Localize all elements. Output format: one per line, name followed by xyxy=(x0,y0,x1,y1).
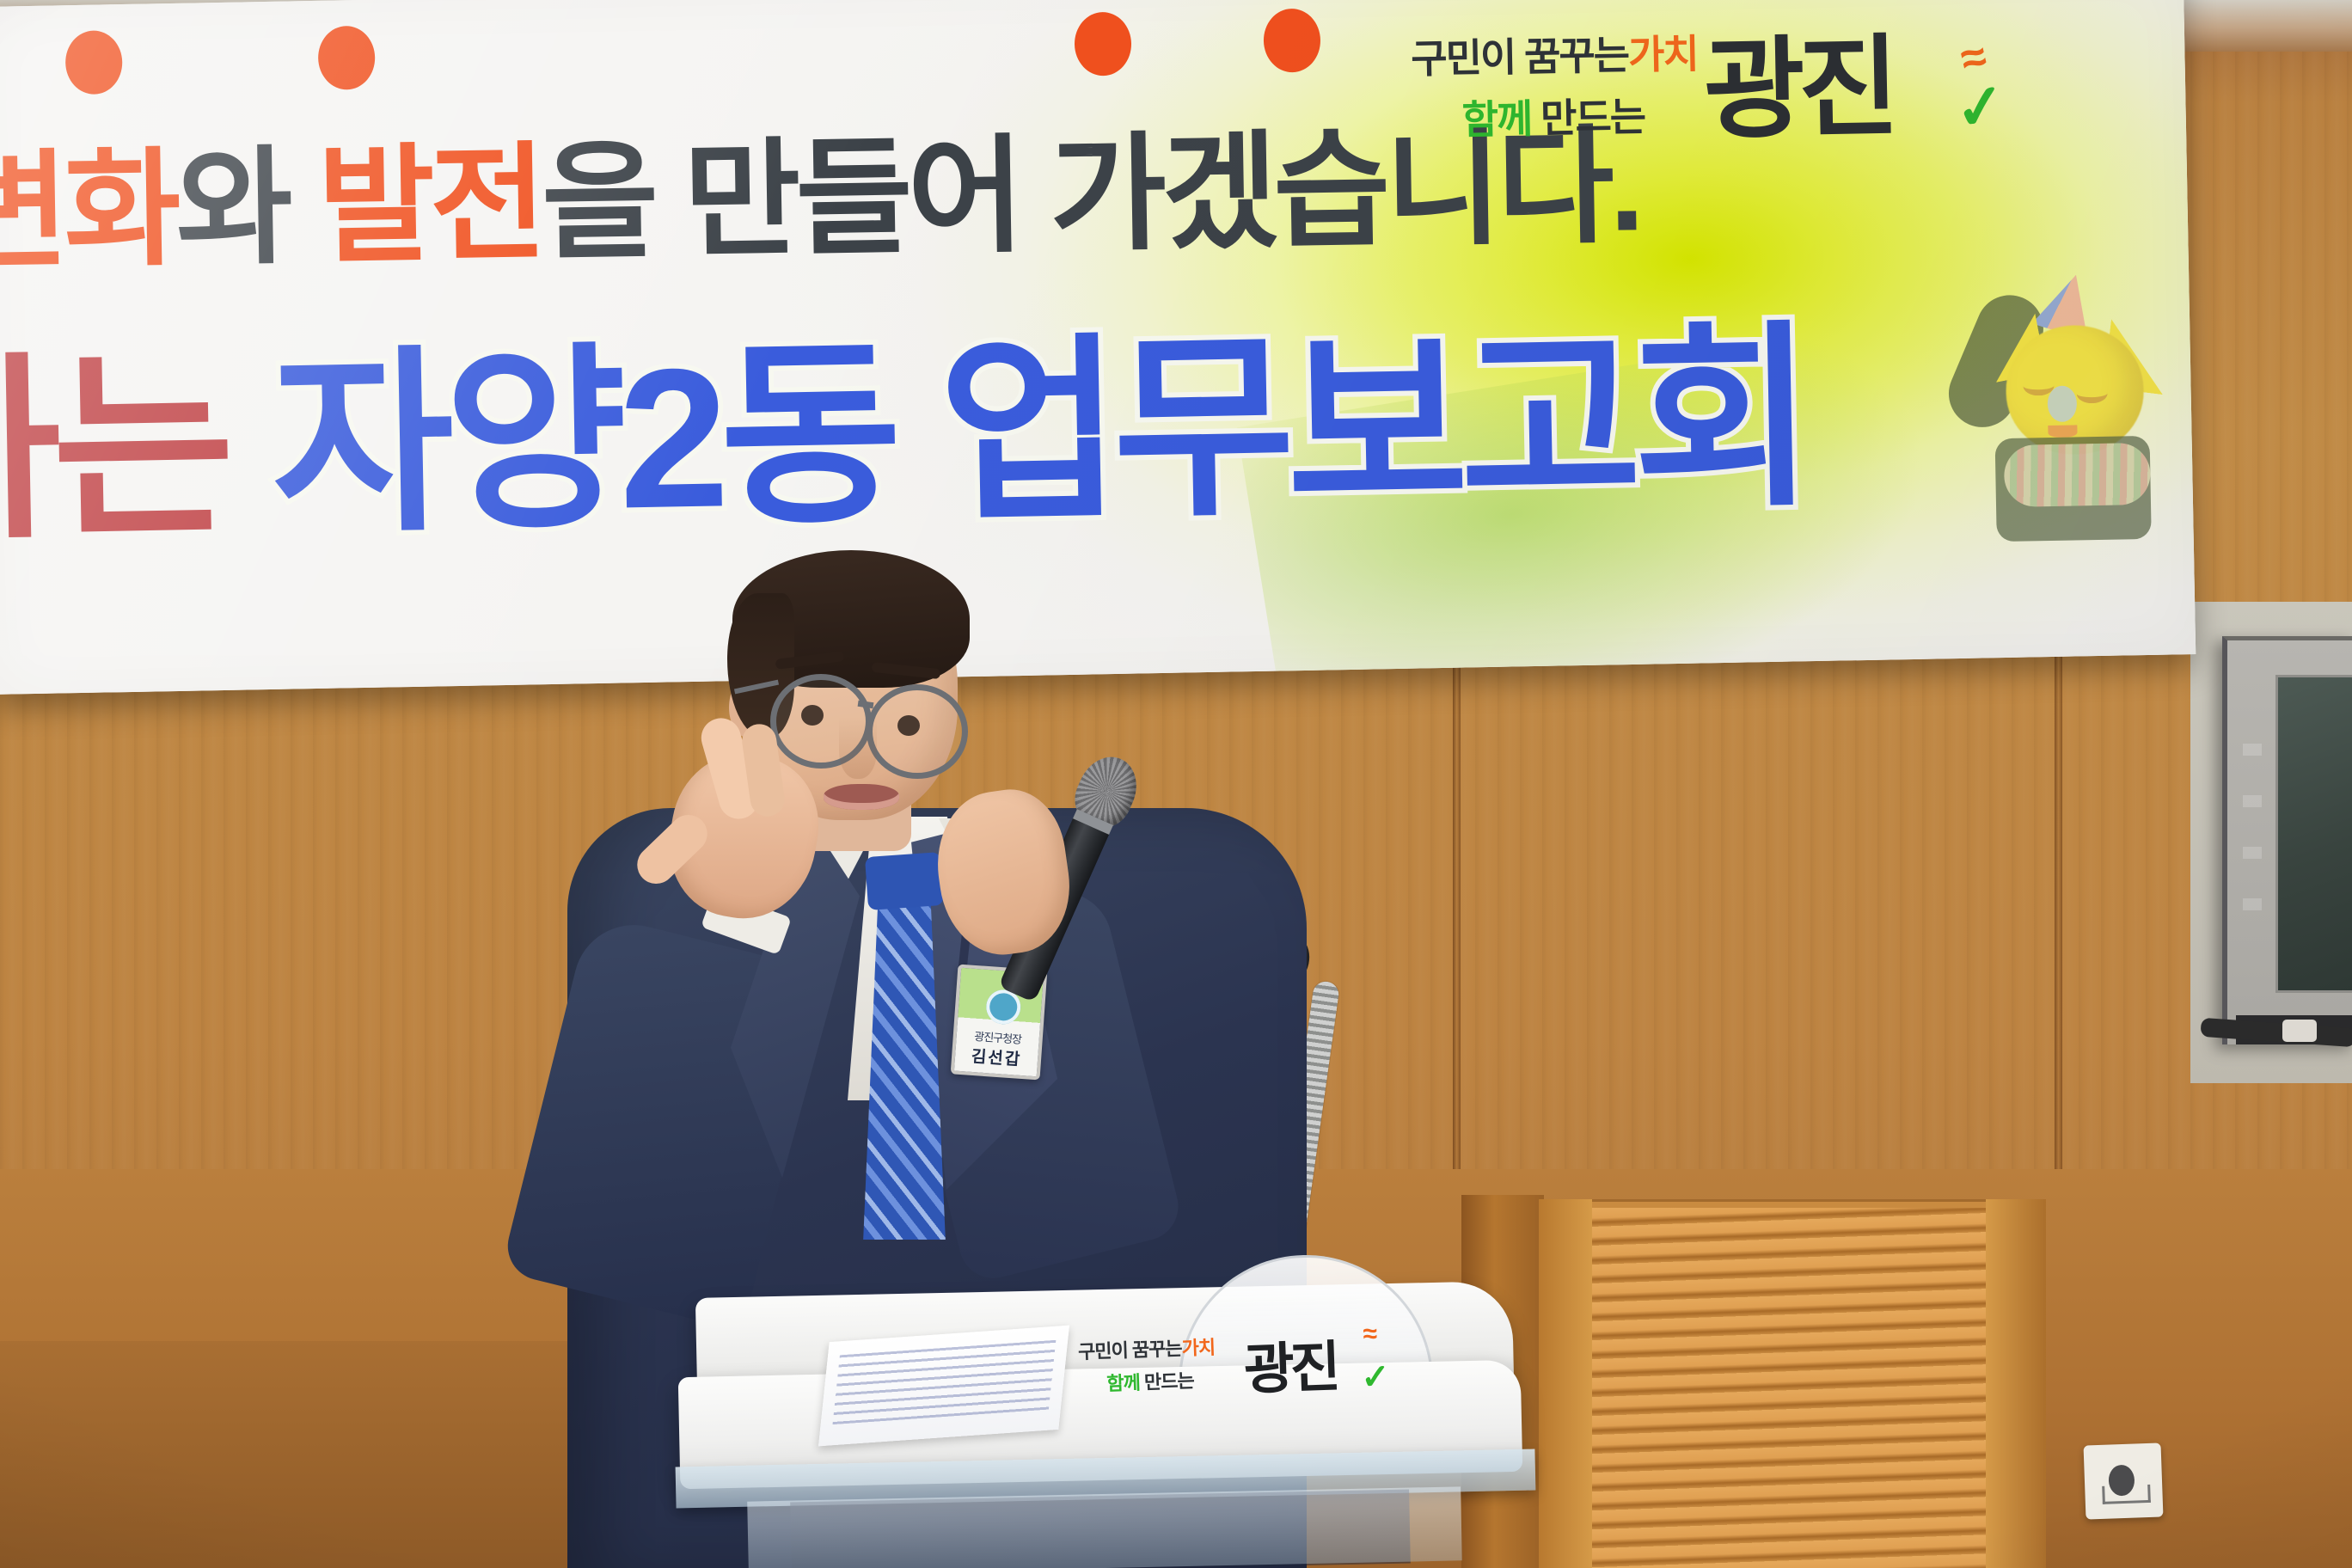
banner-accent-dots xyxy=(65,4,1514,95)
accent-dot xyxy=(1074,12,1131,77)
banner-headline-line1: 변화와 발전을 만들어 가겠습니다. xyxy=(0,82,1640,293)
banner-line1-seg-3: 발전 xyxy=(317,132,543,278)
gwangjin-logo-line2-b: 만드는 xyxy=(1531,95,1645,141)
gwangjin-logo-line1-b: 꿈꾸는 xyxy=(1524,33,1629,79)
lectern-orange-brush-icon: ≈ xyxy=(1363,1320,1378,1350)
necktie-knot xyxy=(865,852,944,910)
gwangjin-logo-line1-a: 구민이 xyxy=(1411,34,1525,81)
lectern-logo-line1-b: 꿈꾸는 xyxy=(1131,1338,1182,1361)
lectern-logo-line1-a: 구민이 xyxy=(1078,1339,1133,1363)
louver-slats xyxy=(1592,1208,1986,1568)
mouth xyxy=(824,784,899,810)
louver-stile-right xyxy=(1986,1199,2046,1568)
louvered-panel xyxy=(1539,1199,2046,1568)
banner-line2-seg-2: 자양2동 업무보고회 xyxy=(270,307,1808,556)
accent-dot xyxy=(65,30,123,95)
lectern-green-brush-icon: ✓ xyxy=(1361,1357,1391,1398)
gwangjin-logo-line1: 구민이 꿈꾸는가치 xyxy=(1411,22,1699,84)
gwangjin-green-brush-icon: ✓ xyxy=(1951,69,2010,145)
gwangjin-logo-line2-a: 함께 xyxy=(1461,96,1532,142)
monitor-buttons xyxy=(2243,744,2262,941)
speech-notes-text-lines xyxy=(832,1340,1056,1424)
gwangjin-logo-line1-c: 가치 xyxy=(1628,31,1699,77)
monitor-screen xyxy=(2275,675,2352,993)
louver-stile-left xyxy=(1539,1199,1592,1568)
nose xyxy=(839,717,877,779)
lectern-gwangjin-logo: 구민이 꿈꾸는가치 함께 만드는 광진 ≈ ✓ xyxy=(1026,1314,1390,1430)
wall-monitor xyxy=(2222,636,2352,1044)
banner-line1-seg-1: 변화 xyxy=(0,138,177,284)
lectern-wordmark: 광진 xyxy=(1242,1323,1338,1406)
banner-line2-seg-1: 하는 xyxy=(0,335,274,563)
mascot-character xyxy=(1952,254,2196,534)
wall-outlet[interactable] xyxy=(2084,1442,2164,1519)
eyeglasses-lens-right xyxy=(867,684,968,779)
cable-plug xyxy=(2282,1020,2317,1042)
gwangjin-logo-line2: 함께 만드는 xyxy=(1461,84,1700,145)
lectern-logo-line2: 함께 만드는 xyxy=(1106,1366,1194,1397)
photo-scene: 변화와 발전을 만들어 가겠습니다. 하는 자양2동 업무보고회 구민이 꿈꾸는… xyxy=(0,0,2352,1568)
accent-dot xyxy=(318,26,376,90)
outlet-bracket-icon xyxy=(2102,1485,2151,1504)
gwangjin-wordmark: 광진 xyxy=(1702,0,1894,160)
lectern-legs xyxy=(747,1486,1462,1568)
mascot-scarf xyxy=(2004,443,2151,507)
mascot-mouth-icon xyxy=(2048,425,2077,438)
lectern-logo-line1-c: 가치 xyxy=(1181,1337,1215,1359)
badge-name: 김선갑 xyxy=(971,1044,1022,1070)
gwangjin-logo: 구민이 꿈꾸는가치 함께 만드는 xyxy=(1411,22,1700,146)
lectern-logo-line2-a: 함께 xyxy=(1106,1372,1140,1394)
lectern-logo-line1: 구민이 꿈꾸는가치 xyxy=(1077,1332,1215,1365)
accent-dot xyxy=(1264,8,1321,72)
banner-line1-seg-2: 와 xyxy=(175,136,319,280)
lectern-logo-line2-b: 만드는 xyxy=(1139,1370,1194,1393)
banner-headline-line2: 하는 자양2동 업무보고회 xyxy=(0,257,1809,579)
